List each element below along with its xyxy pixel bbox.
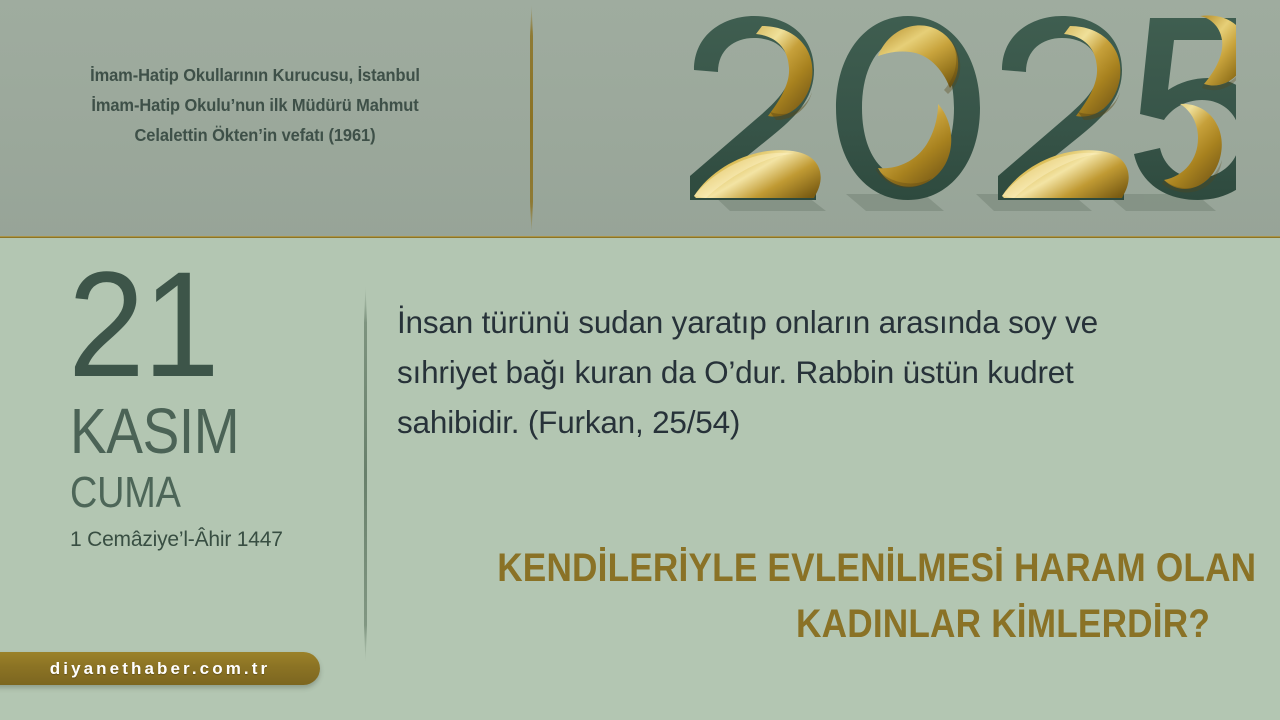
header-vertical-divider bbox=[530, 4, 533, 234]
site-url-badge[interactable]: diyanethaber.com.tr bbox=[0, 652, 320, 685]
date-weekday: CUMA bbox=[70, 470, 294, 516]
content-vertical-divider bbox=[364, 285, 367, 663]
headline-line-1: KENDİLERİYLE EVLENİLMESİ HARAM OLAN bbox=[497, 540, 1210, 596]
date-block: 21 KASIM CUMA 1 Cemâziye’l-Âhir 1447 bbox=[0, 264, 330, 552]
year-2025-artwork bbox=[676, 8, 1236, 218]
headline-line-2: KADINLAR KİMLERDİR? bbox=[497, 596, 1210, 652]
anniversary-line-2: İmam-Hatip Okulu’nun ilk Müdürü Mahmut bbox=[15, 90, 494, 120]
date-day: 21 bbox=[68, 264, 309, 384]
anniversary-line-1: İmam-Hatip Okullarının Kurucusu, İstanbu… bbox=[15, 60, 494, 90]
date-month: KASIM bbox=[70, 398, 294, 464]
anniversary-line-3: Celalettin Ökten’in vefatı (1961) bbox=[15, 120, 494, 150]
header-banner: İmam-Hatip Okullarının Kurucusu, İstanbu… bbox=[0, 0, 1280, 238]
header-gold-rule bbox=[0, 236, 1280, 238]
anniversary-note: İmam-Hatip Okullarının Kurucusu, İstanbu… bbox=[15, 60, 494, 150]
site-url-label: diyanethaber.com.tr bbox=[0, 652, 320, 685]
main-content: 21 KASIM CUMA 1 Cemâziye’l-Âhir 1447 İns… bbox=[0, 240, 1280, 720]
verse-quote: İnsan türünü sudan yaratıp onların arası… bbox=[397, 297, 1187, 447]
article-headline[interactable]: KENDİLERİYLE EVLENİLMESİ HARAM OLAN KADI… bbox=[497, 540, 1210, 652]
date-hijri: 1 Cemâziye’l-Âhir 1447 bbox=[70, 528, 330, 552]
